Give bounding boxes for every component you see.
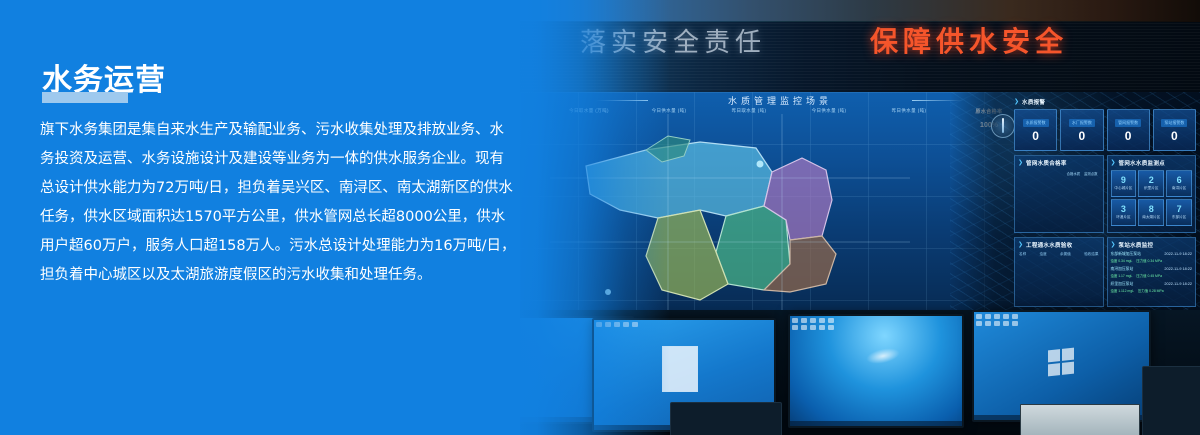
side-panel — [1142, 366, 1200, 435]
station-turbidity: 浊度 1.17 mgL — [1111, 273, 1133, 278]
panel-title: 管网水水质监测点 — [1119, 159, 1165, 167]
alarm-card[interactable]: 水厂报警数 0 — [1060, 109, 1103, 151]
column-header-result: 验收结果 — [1084, 252, 1098, 257]
site-label: 东部片区 — [1172, 215, 1186, 220]
panel-header: ❯ 管网水水质监测点 — [1111, 159, 1193, 167]
sites-grid: 9 中心城片区 2 织里片区 6 南浔片区 — [1111, 170, 1193, 226]
chevron-right-icon: ❯ — [1111, 160, 1116, 166]
site-label: 中心城片区 — [1114, 186, 1132, 191]
taskbar — [790, 421, 962, 426]
column-header-chlorine: 余氯值 — [1060, 252, 1071, 257]
body-line: 任务，供水区域面积达1570平方公里，供水管网总长超8000公里，供水 — [40, 203, 560, 232]
desktop-icon[interactable] — [994, 314, 1000, 319]
chevron-right-icon: ❯ — [1018, 242, 1023, 248]
panel-header: ❯ 泵站水质监控 — [1111, 241, 1193, 249]
station-turbidity: 浊度 1.112 mgL — [1111, 288, 1135, 293]
site-cell[interactable]: 6 南浔片区 — [1166, 170, 1192, 197]
dashboard-title: 水质管理监控场景 — [650, 94, 910, 107]
desktop-icon[interactable] — [985, 314, 991, 319]
desktop-icon[interactable] — [810, 318, 816, 323]
site-count: 9 — [1121, 176, 1126, 185]
bottom-panel-row: ❯ 工程通水水质验收 名称 浊度 余氯值 验收结果 ❯ — [1014, 237, 1196, 307]
alarm-card-label: 水厂报警数 — [1069, 119, 1095, 127]
panel-header: ❯ 管网水质合格率 — [1018, 159, 1100, 167]
panel-header: ❯ 水质报警 — [1014, 98, 1196, 106]
alarm-card-label: 水质报警数 — [1023, 119, 1049, 127]
station-time: 2022-11-9 18:22 — [1164, 252, 1192, 257]
pass-rate-panel: ❯ 管网水质合格率 合格水质 监测点数 — [1014, 155, 1104, 233]
laptop-screen — [1020, 404, 1140, 435]
site-count: 7 — [1177, 205, 1182, 214]
alarm-card-value: 0 — [1032, 130, 1039, 142]
chevron-right-icon: ❯ — [1111, 242, 1116, 248]
desktop-icon[interactable] — [828, 325, 834, 330]
column-header-name: 名称 — [1019, 252, 1026, 257]
site-label: 环渚片区 — [1116, 215, 1130, 220]
panel-title: 工程通水水质验收 — [1026, 241, 1072, 249]
desktop-icon[interactable] — [792, 325, 798, 330]
windows-logo-icon — [1048, 347, 1074, 376]
site-cell[interactable]: 2 织里片区 — [1138, 170, 1164, 197]
station-log-line-main: 东部新城加压泵站 2022-11-9 18:22 — [1111, 252, 1193, 257]
desktop-icon[interactable] — [801, 325, 807, 330]
station-turbidity: 浊度 0.34 mgL — [1111, 258, 1133, 263]
site-count: 2 — [1149, 176, 1154, 185]
station-log-list: 东部新城加压泵站 2022-11-9 18:22 浊度 0.34 mgL 压力值… — [1111, 252, 1193, 293]
chevron-right-icon: ❯ — [1014, 99, 1019, 105]
control-room-photo: 落实安全责任 保障供水安全 水质管理监控场景 今日取水量 (万吨) 今日供水量 … — [520, 0, 1200, 435]
alarm-card[interactable]: 泵站报警数 0 — [1153, 109, 1196, 151]
station-log-line-main: 织里加压泵站 2022-11-9 18:22 — [1111, 282, 1193, 287]
station-name: 东部新城加压泵站 — [1111, 252, 1141, 257]
alarm-card-value: 0 — [1125, 130, 1132, 142]
site-count: 8 — [1149, 205, 1154, 214]
desktop-icon[interactable] — [985, 321, 991, 326]
legend-item-0: 合格水质 — [1067, 172, 1081, 176]
site-cell[interactable]: 3 环渚片区 — [1111, 199, 1137, 226]
map-marker — [757, 161, 764, 168]
station-log-row: 南浔加压泵站 2022-11-9 18:22 浊度 1.17 mgL 压力值 0… — [1111, 267, 1193, 278]
station-pressure: 压力值 0.34 MPa — [1136, 258, 1162, 263]
desktop-icon[interactable] — [810, 325, 816, 330]
desktop-icon[interactable] — [976, 314, 982, 319]
column-header-turbidity: 浊度 — [1040, 252, 1047, 257]
alarm-card-label: 管网报警数 — [1115, 119, 1141, 127]
desktop-icon[interactable] — [994, 321, 1000, 326]
station-pressure: 压力值 0.28 MPa — [1138, 288, 1164, 293]
dashboard-right-panels: ❯ 水质报警 水质报警数 0 水厂报警数 0 管网报警数 — [1014, 98, 1196, 313]
acceptance-table-header: 名称 浊度 余氯值 验收结果 — [1018, 252, 1100, 257]
alarm-panel: ❯ 水质报警 水质报警数 0 水厂报警数 0 管网报警数 — [1014, 98, 1196, 151]
site-label: 织里片区 — [1144, 186, 1158, 191]
station-log-line-metrics: 浊度 1.17 mgL 压力值 0.45 MPa — [1111, 273, 1193, 278]
desktop-icon[interactable] — [976, 321, 982, 326]
water-operations-banner: 落实安全责任 保障供水安全 水质管理监控场景 今日取水量 (万吨) 今日供水量 … — [0, 0, 1200, 435]
panel-header: ❯ 工程通水水质验收 — [1018, 241, 1100, 249]
alarm-card-value: 0 — [1079, 130, 1086, 142]
alarm-card-row: 水质报警数 0 水厂报警数 0 管网报警数 0 泵站报警数 — [1014, 109, 1196, 151]
site-cell[interactable]: 8 南太湖片区 — [1138, 199, 1164, 226]
pass-rate-chart: 合格水质 监测点数 — [1018, 171, 1100, 225]
wallpaper-swimmer — [865, 346, 901, 367]
station-time: 2022-11-9 18:22 — [1164, 282, 1192, 287]
station-log-row: 织里加压泵站 2022-11-9 18:22 浊度 1.112 mgL 压力值 … — [1111, 282, 1193, 293]
text-panel: 水务运营 旗下水务集团是集自来水生产及输配业务、污水收集处理及排放业务、水 务投… — [0, 0, 560, 435]
desktop-icon[interactable] — [801, 318, 807, 323]
station-time: 2022-11-9 18:22 — [1164, 267, 1192, 272]
desktop-icon[interactable] — [1003, 321, 1009, 326]
station-log-line-metrics: 浊度 1.112 mgL 压力值 0.28 MPa — [1111, 288, 1193, 293]
station-log-line-main: 南浔加压泵站 2022-11-9 18:22 — [1111, 267, 1193, 272]
site-count: 6 — [1177, 176, 1182, 185]
title-underline-bar — [42, 92, 128, 103]
chevron-right-icon: ❯ — [1018, 160, 1023, 166]
desktop-icon[interactable] — [819, 318, 825, 323]
body-line: 总设计供水能力为72万吨/日，担负着吴兴区、南浔区、南太湖新区的供水 — [40, 174, 560, 203]
alarm-card-label: 泵站报警数 — [1161, 119, 1187, 127]
body-copy: 旗下水务集团是集自来水生产及输配业务、污水收集处理及排放业务、水 务投资及运营、… — [40, 116, 560, 290]
desk-divider — [670, 402, 782, 435]
chart-legend: 合格水质 监测点数 — [1067, 171, 1098, 176]
desktop-icons — [792, 318, 835, 330]
desktop-icons — [976, 314, 1019, 326]
desktop-icon[interactable] — [1012, 314, 1018, 319]
acceptance-panel: ❯ 工程通水水质验收 名称 浊度 余氯值 验收结果 — [1014, 237, 1104, 307]
monitoring-sites-panel: ❯ 管网水水质监测点 9 中心城片区 2 织里片区 — [1107, 155, 1197, 233]
body-line: 用户超60万户，服务人口超158万人。污水总设计处理能力为16万吨/日， — [40, 232, 560, 261]
site-cell[interactable]: 9 中心城片区 — [1111, 170, 1137, 197]
site-label: 南太湖片区 — [1142, 215, 1160, 220]
station-log-row: 东部新城加压泵站 2022-11-9 18:22 浊度 0.34 mgL 压力值… — [1111, 252, 1193, 263]
station-name: 织里加压泵站 — [1111, 282, 1134, 287]
alarm-card-value: 0 — [1171, 130, 1178, 142]
site-label: 南浔片区 — [1172, 186, 1186, 191]
desktop-icon[interactable] — [792, 318, 798, 323]
legend-item-1: 监测点数 — [1084, 172, 1098, 176]
station-name: 南浔加压泵站 — [1111, 267, 1134, 272]
desktop-icon[interactable] — [1012, 321, 1018, 326]
body-line: 旗下水务集团是集自来水生产及输配业务、污水收集处理及排放业务、水 — [40, 116, 560, 145]
station-panel: ❯ 泵站水质监控 东部新城加压泵站 2022-11-9 18:22 浊度 0.3 — [1107, 237, 1197, 307]
panel-title: 泵站水质监控 — [1119, 241, 1154, 249]
desktop-icon[interactable] — [828, 318, 834, 323]
panel-title: 管网水质合格率 — [1026, 159, 1067, 167]
panel-title: 水质报警 — [1022, 98, 1045, 106]
site-cell[interactable]: 7 东部片区 — [1166, 199, 1192, 226]
middle-panel-row: ❯ 管网水质合格率 合格水质 监测点数 — [1014, 155, 1196, 233]
station-pressure: 压力值 0.45 MPa — [1136, 273, 1162, 278]
banner-slogan-right: 保障供水安全 — [870, 20, 1068, 60]
desktop-icon[interactable] — [1003, 314, 1009, 319]
compass-icon — [991, 114, 1015, 138]
desktop-icon[interactable] — [819, 325, 825, 330]
station-log-line-metrics: 浊度 0.34 mgL 压力值 0.34 MPa — [1111, 258, 1193, 263]
alarm-card[interactable]: 管网报警数 0 — [1107, 109, 1150, 151]
body-line: 务投资及运营、水务设施设计及建设等业务为一体的供水服务企业。现有 — [40, 145, 560, 174]
monitor-3 — [788, 314, 964, 428]
site-count: 3 — [1121, 205, 1126, 214]
body-line: 担负着中心城区以及太湖旅游度假区的污水收集和处理任务。 — [40, 261, 560, 290]
alarm-card[interactable]: 水质报警数 0 — [1014, 109, 1057, 151]
